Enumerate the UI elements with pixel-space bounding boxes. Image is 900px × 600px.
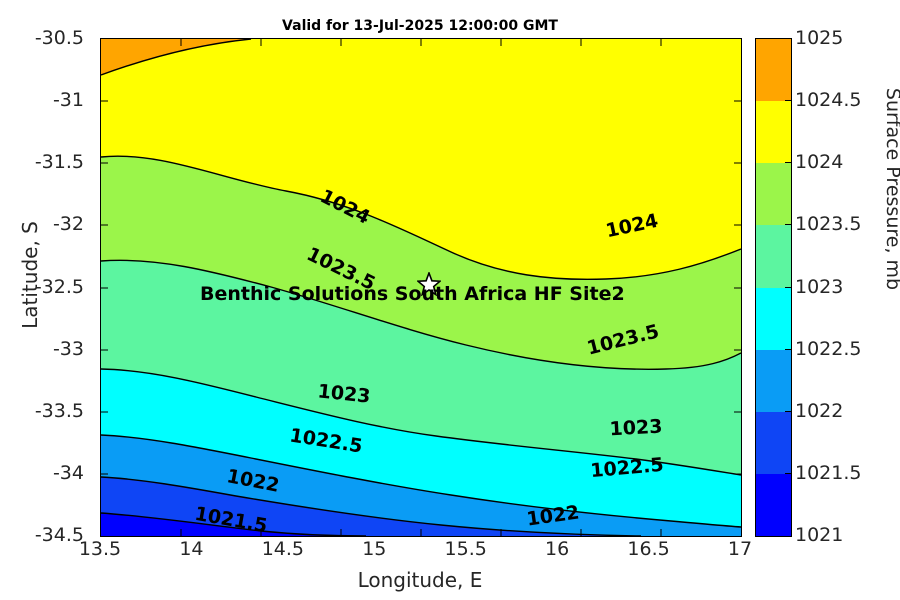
y-tick-label: -31	[53, 89, 84, 111]
colorbar-band	[756, 287, 791, 350]
colorbar-tick-label: 1022.5	[795, 338, 861, 360]
x-tick-label: 16.5	[627, 538, 669, 560]
colorbar-tick-label: 1021.5	[795, 462, 861, 484]
x-tick-label: 15.5	[445, 538, 487, 560]
colorbar-band	[756, 101, 791, 164]
y-tick-label: -32	[53, 213, 84, 235]
colorbar-band	[756, 473, 791, 536]
site-label: Benthic Solutions South Africa HF Site2	[200, 283, 625, 305]
x-tick-label: 14.5	[262, 538, 304, 560]
colorbar-band	[756, 411, 791, 474]
y-tick-label: -34.5	[35, 524, 84, 546]
y-tick-label: -34	[53, 462, 84, 484]
colorbar-band	[756, 225, 791, 288]
colorbar[interactable]	[755, 38, 792, 537]
x-tick-label: 15	[362, 538, 386, 560]
x-axis-tick-labels: 13.51414.51515.51616.517	[100, 538, 740, 568]
colorbar-tick-label: 1024.5	[795, 89, 861, 111]
colorbar-band	[756, 349, 791, 412]
y-axis-tick-labels: -30.5-31-31.5-32-32.5-33-33.5-34-34.5	[0, 38, 92, 535]
colorbar-tick	[785, 162, 791, 163]
y-axis-title: Latitude, S	[18, 155, 42, 395]
y-tick-label: -32.5	[35, 276, 84, 298]
contour-value-label: 1023	[609, 416, 663, 441]
colorbar-tick	[785, 287, 791, 288]
y-tick-label: -30.5	[35, 27, 84, 49]
colorbar-tick	[785, 411, 791, 412]
colorbar-tick	[785, 224, 791, 225]
colorbar-tick	[785, 100, 791, 101]
colorbar-tick	[785, 473, 791, 474]
colorbar-title: Surface Pressure, mb	[882, 79, 900, 299]
x-tick-label: 14	[179, 538, 203, 560]
y-tick-label: -33.5	[35, 400, 84, 422]
colorbar-tick-labels: 10251024.510241023.510231022.510221021.5…	[795, 38, 895, 535]
colorbar-tick-label: 1022	[795, 400, 843, 422]
colorbar-tick	[785, 349, 791, 350]
y-tick-label: -31.5	[35, 151, 84, 173]
colorbar-band	[756, 163, 791, 226]
colorbar-tick-label: 1024	[795, 151, 843, 173]
x-tick-label: 16	[545, 538, 569, 560]
y-tick-label: -33	[53, 338, 84, 360]
colorbar-tick-label: 1023.5	[795, 213, 861, 235]
colorbar-tick-label: 1025	[795, 27, 843, 49]
colorbar-band	[756, 39, 791, 102]
x-axis-title: Longitude, E	[100, 568, 740, 592]
plot-title: Valid for 13-Jul-2025 12:00:00 GMT	[100, 18, 740, 34]
colorbar-tick-label: 1023	[795, 276, 843, 298]
colorbar-tick-label: 1021	[795, 524, 843, 546]
x-tick-label: 17	[728, 538, 752, 560]
contour-figure: Valid for 13-Jul-2025 12:00:00 GMT	[0, 0, 900, 600]
x-tick-label: 13.5	[79, 538, 121, 560]
